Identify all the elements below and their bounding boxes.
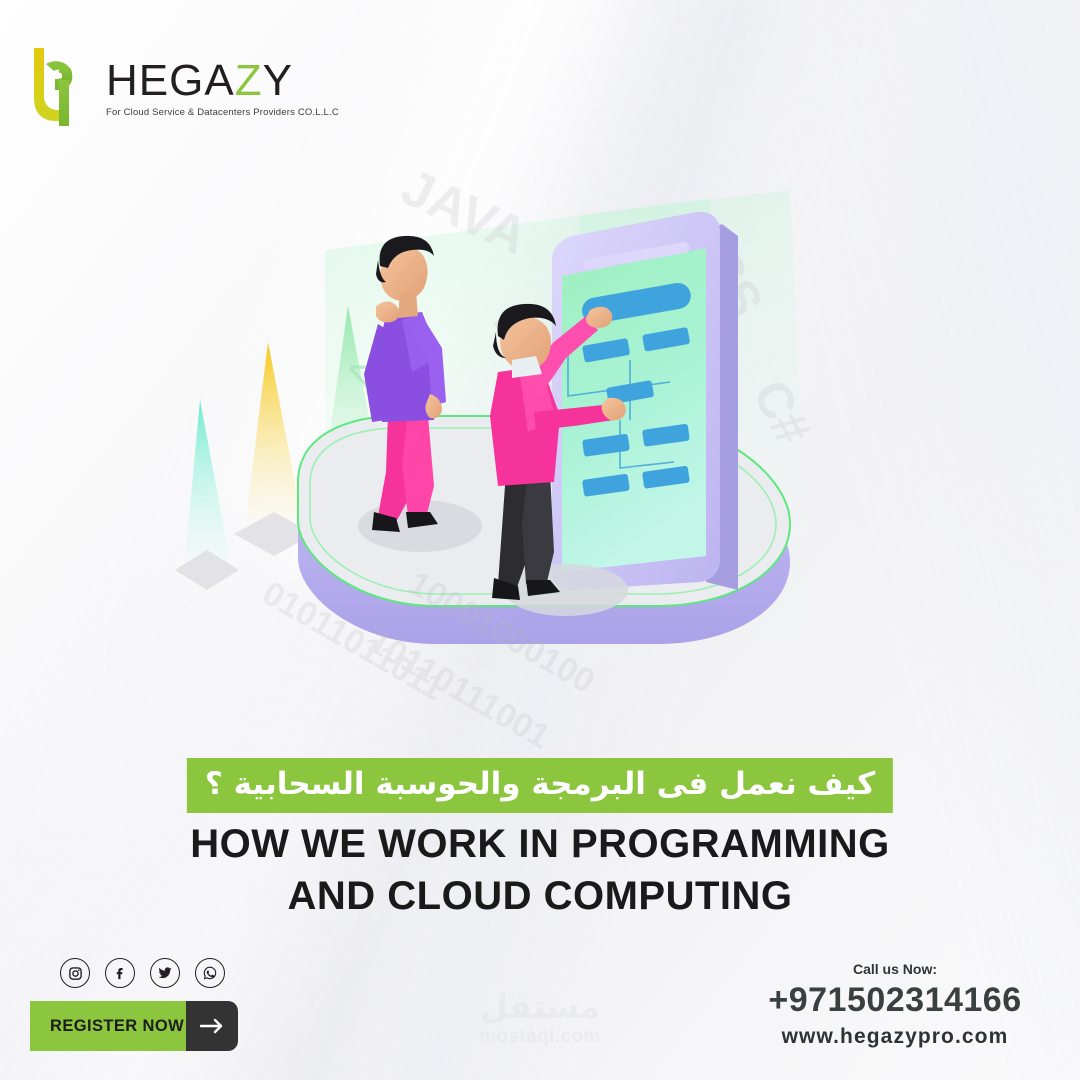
mostaql-watermark: مستقل mostaql.com <box>440 988 640 1048</box>
hegazy-h-mark-icon <box>28 46 96 128</box>
website-url[interactable]: www.hegazypro.com <box>750 1024 1040 1050</box>
poster-canvas: HEGAZY For Cloud Service & Datacenters P… <box>0 0 1080 1080</box>
hero-illustration: JAVA HTML CSS C# </> <box>150 120 950 760</box>
brand-logo[interactable]: HEGAZY For Cloud Service & Datacenters P… <box>28 44 328 130</box>
cone-teal <box>175 400 239 590</box>
mobile-device <box>552 212 738 590</box>
brand-wordmark-suffix: Y <box>263 56 293 105</box>
watermark-latin: mostaql.com <box>440 1026 640 1048</box>
english-headline-line-1: HOW WE WORK IN PROGRAMMING <box>0 818 1080 870</box>
english-headline-line-2: AND CLOUD COMPUTING <box>0 870 1080 922</box>
english-headline: HOW WE WORK IN PROGRAMMING AND CLOUD COM… <box>0 818 1080 922</box>
instagram-icon <box>68 966 83 981</box>
arabic-headline-banner: كيف نعمل فى البرمجة والحوسبة السحابية ؟ <box>187 758 893 813</box>
whatsapp-icon <box>202 965 218 981</box>
brand-wordmark-prefix: HEGA <box>106 56 235 105</box>
brand-wordmark-accent: Z <box>235 56 263 105</box>
social-link-whatsapp[interactable] <box>195 958 225 988</box>
phone-number[interactable]: +971502314166 <box>750 980 1040 1020</box>
social-link-twitter[interactable] <box>150 958 180 988</box>
call-us-label: Call us Now: <box>750 960 1040 978</box>
brand-wordmark: HEGAZY <box>106 58 326 104</box>
facebook-icon <box>113 966 128 981</box>
register-now-button[interactable]: REGISTER NOW <box>30 1001 238 1051</box>
watermark-arabic: مستقل <box>440 988 640 1026</box>
figure-shadow <box>504 564 628 616</box>
twitter-icon <box>157 965 173 981</box>
social-link-facebook[interactable] <box>105 958 135 988</box>
register-now-label: REGISTER NOW <box>30 1001 186 1051</box>
arabic-headline: كيف نعمل فى البرمجة والحوسبة السحابية ؟ <box>205 766 875 802</box>
brand-tagline: For Cloud Service & Datacenters Provider… <box>106 107 326 118</box>
social-links <box>60 958 225 988</box>
arrow-right-icon <box>186 1001 238 1051</box>
contact-block: Call us Now: +971502314166 www.hegazypro… <box>750 960 1040 1050</box>
social-link-instagram[interactable] <box>60 958 90 988</box>
